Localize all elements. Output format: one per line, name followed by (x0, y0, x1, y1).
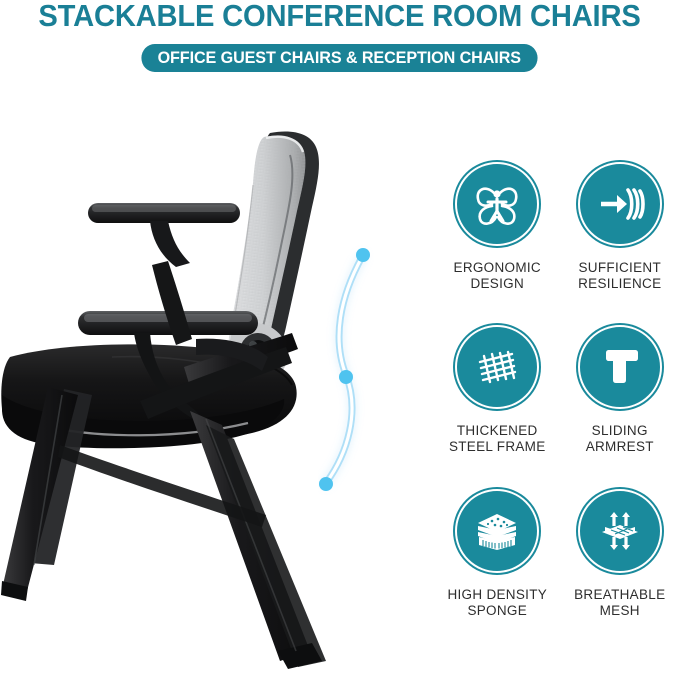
thickened-steel-frame-icon (455, 325, 539, 409)
breathable-mesh-icon (578, 489, 662, 573)
sufficient-resilience-icon (578, 162, 662, 246)
chair-armrest-rear (88, 203, 240, 267)
feature-sliding-armrest[interactable]: SLIDING ARMREST (561, 323, 679, 486)
product-image (0, 95, 440, 677)
ergonomic-design-icon (455, 162, 539, 246)
feature-label: ERGONOMIC DESIGN (454, 260, 541, 292)
high-density-sponge-icon (455, 489, 539, 573)
product-infographic: STACKABLE CONFERENCE ROOM CHAIRS OFFICE … (0, 0, 679, 677)
feature-label: THICKENED STEEL FRAME (449, 423, 546, 455)
feature-breathable-mesh[interactable]: BREATHABLE MESH (561, 487, 679, 650)
feature-grid: ERGONOMIC DESIGN SUFFICIENT RESILIENCE (438, 160, 679, 650)
spine-dot-top (356, 248, 370, 262)
spine-dot-bottom (319, 477, 333, 491)
feature-sufficient-resilience[interactable]: SUFFICIENT RESILIENCE (561, 160, 679, 323)
feature-ergonomic-design[interactable]: ERGONOMIC DESIGN (438, 160, 557, 323)
feature-label: SLIDING ARMREST (586, 423, 654, 455)
feature-label: SUFFICIENT RESILIENCE (578, 260, 661, 292)
feature-high-density-sponge[interactable]: HIGH DENSITY SPONGE (438, 487, 557, 650)
subtitle-container: OFFICE GUEST CHAIRS & RECEPTION CHAIRS (0, 44, 679, 72)
feature-label: HIGH DENSITY SPONGE (447, 587, 547, 619)
sliding-armrest-icon (578, 325, 662, 409)
feature-thickened-steel-frame[interactable]: THICKENED STEEL FRAME (438, 323, 557, 486)
feature-label: BREATHABLE MESH (574, 587, 665, 619)
page-title: STACKABLE CONFERENCE ROOM CHAIRS (20, 0, 658, 34)
spine-dot-middle (339, 370, 353, 384)
ergonomic-spine-curve (318, 235, 398, 505)
subtitle-badge: OFFICE GUEST CHAIRS & RECEPTION CHAIRS (142, 44, 538, 72)
